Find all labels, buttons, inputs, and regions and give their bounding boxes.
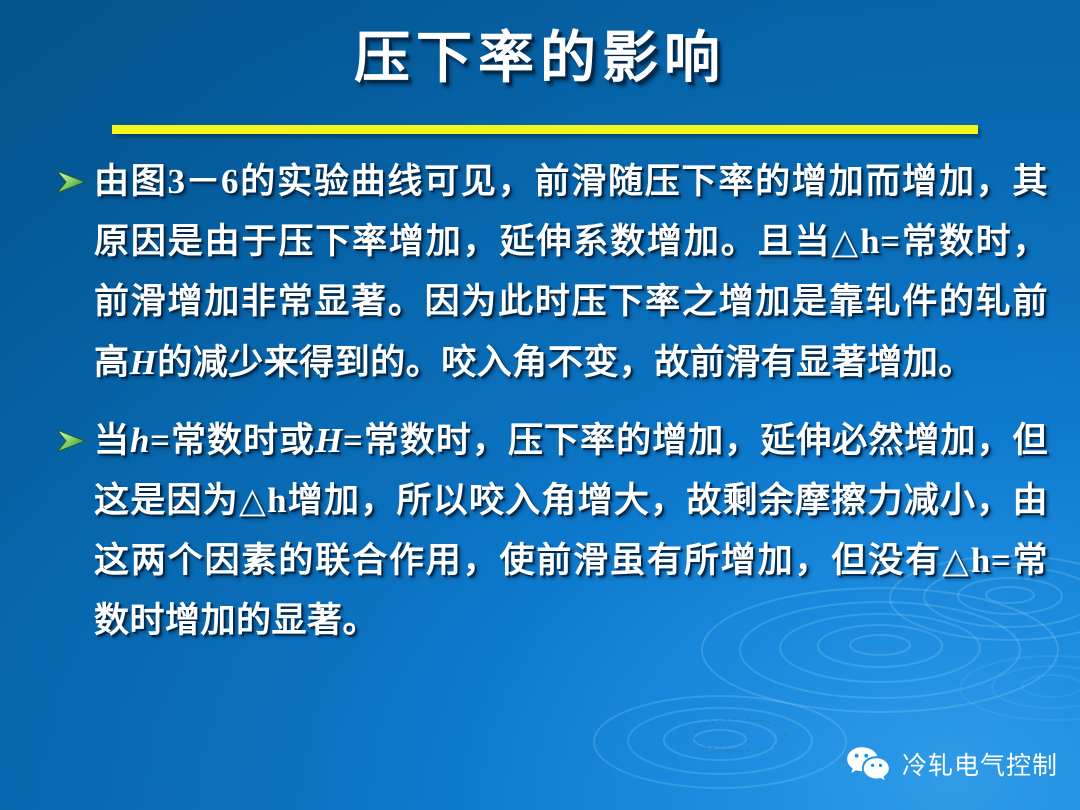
bullet-item: 由图3－6的实验曲线可见，前滑随压下率的增加而增加，其原因是由于压下率增加，延伸… (48, 152, 1048, 393)
bullet-2-seg-0: 当 (94, 421, 130, 460)
bullet-2-seg-1-italic-h: h (130, 421, 150, 460)
wechat-watermark: 冷轧电气控制 (844, 744, 1058, 784)
bullet-item: 当h=常数时或H=常数时，压下率的增加，延伸必然增加，但这是因为△h增加，所以咬… (48, 411, 1048, 652)
bullet-paragraph-2: 当h=常数时或H=常数时，压下率的增加，延伸必然增加，但这是因为△h增加，所以咬… (94, 411, 1048, 652)
arrow-bullet-icon (48, 156, 94, 208)
watermark-label: 冷轧电气控制 (902, 746, 1058, 782)
slide-title: 压下率的影响 (0, 26, 1080, 92)
arrow-bullet-icon (48, 415, 94, 467)
bullet-paragraph-1: 由图3－6的实验曲线可见，前滑随压下率的增加而增加，其原因是由于压下率增加，延伸… (94, 152, 1048, 393)
title-divider (112, 125, 978, 134)
bullet-2-seg-3-italic-H: H (315, 421, 343, 460)
bullet-1-seg-1-italic-H: H (130, 343, 158, 382)
wechat-icon (844, 744, 892, 784)
slide-canvas: 压下率的影响 由图3－6的实验曲线可见，前滑随压下率的增加 (0, 0, 1080, 810)
bullet-2-seg-2: =常数时或 (150, 421, 315, 460)
bullet-1-seg-2: 的减少来得到的。咬入角不变，故前滑有显著增加。 (157, 343, 974, 382)
slide-body: 由图3－6的实验曲线可见，前滑随压下率的增加而增加，其原因是由于压下率增加，延伸… (48, 152, 1048, 658)
